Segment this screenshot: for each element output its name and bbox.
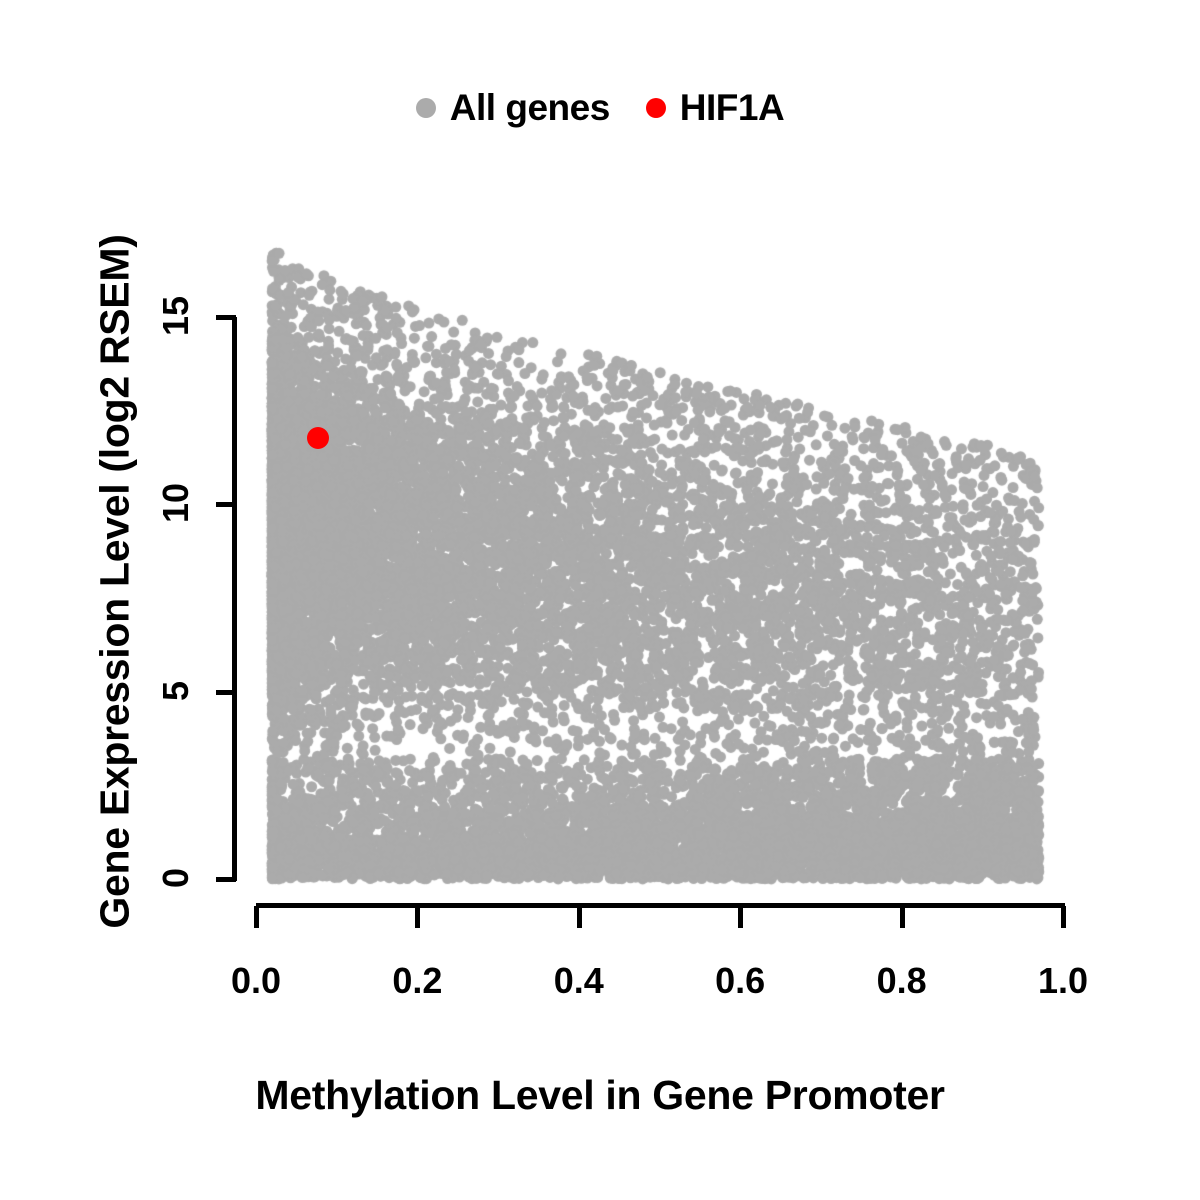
x-tick-0.0 <box>254 906 259 928</box>
y-tick-label-10: 10 <box>155 473 197 533</box>
x-tick-label-0.0: 0.0 <box>196 960 316 1002</box>
x-tick-0.2 <box>415 906 420 928</box>
y-tick-label-15: 15 <box>155 286 197 346</box>
scatter-points-layer <box>0 0 1200 1200</box>
y-axis-line <box>232 317 237 881</box>
y-tick-label-5: 5 <box>155 661 197 721</box>
x-tick-label-0.6: 0.6 <box>680 960 800 1002</box>
y-tick-label-0: 0 <box>155 848 197 908</box>
x-tick-label-0.2: 0.2 <box>357 960 477 1002</box>
y-tick-5 <box>216 690 236 695</box>
hif1a-data-point <box>307 427 329 449</box>
y-axis-title: Gene Expression Level (log2 RSEM) <box>92 82 139 1082</box>
x-axis-line <box>256 903 1065 908</box>
x-tick-label-1.0: 1.0 <box>1003 960 1123 1002</box>
x-tick-0.4 <box>577 906 582 928</box>
x-tick-1.0 <box>1061 906 1066 928</box>
y-tick-15 <box>216 315 236 320</box>
x-axis-title: Methylation Level in Gene Promoter <box>0 1072 1200 1119</box>
x-tick-0.8 <box>900 906 905 928</box>
scatter-plot-figure: All genes HIF1A 051015 0.00.20.40.60.81.… <box>0 0 1200 1200</box>
x-tick-0.6 <box>738 906 743 928</box>
x-tick-label-0.8: 0.8 <box>842 960 962 1002</box>
y-tick-0 <box>216 877 236 882</box>
y-tick-10 <box>216 502 236 507</box>
x-tick-label-0.4: 0.4 <box>519 960 639 1002</box>
plot-area: 051015 0.00.20.40.60.81.0 <box>0 0 1200 1200</box>
